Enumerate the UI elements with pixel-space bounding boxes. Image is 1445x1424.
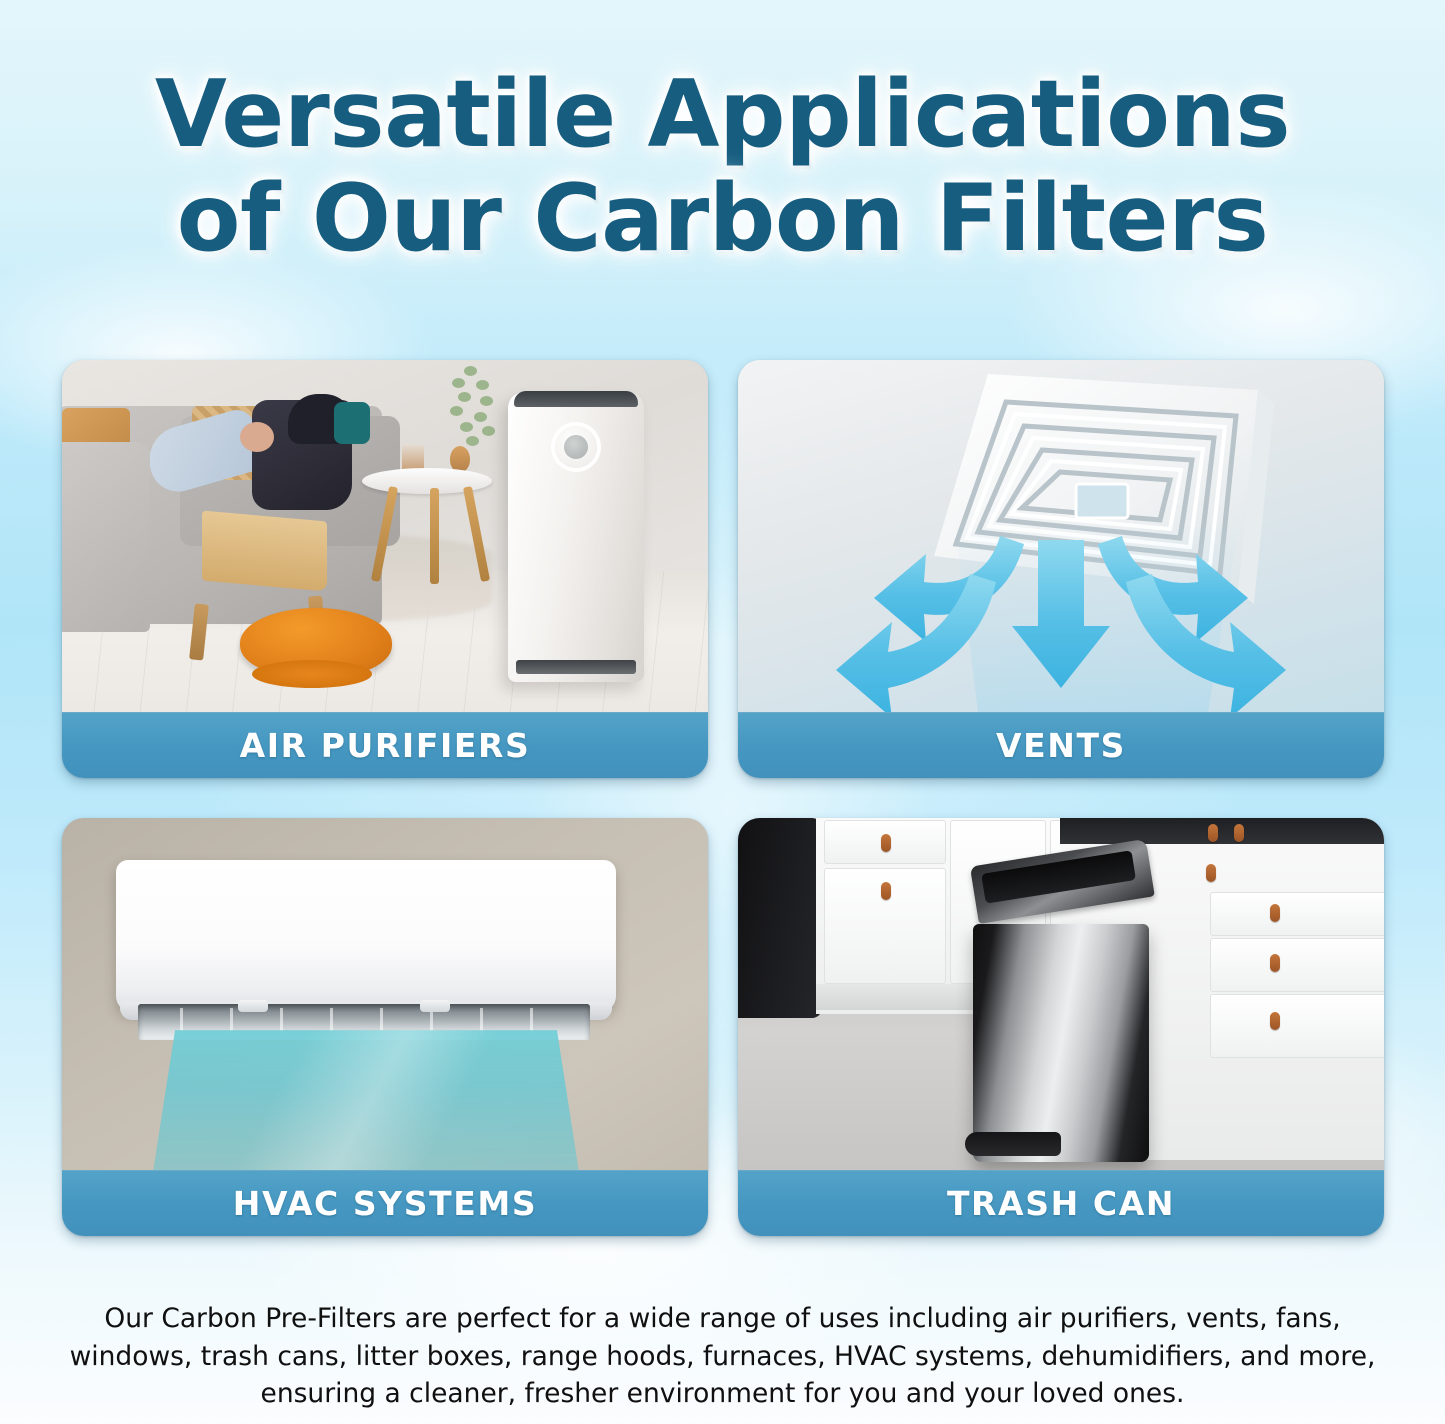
application-card-hvac-systems: HVAC SYSTEMS bbox=[62, 818, 708, 1236]
page-title-line-1: Versatile Applications bbox=[155, 60, 1290, 168]
photo-ceiling-vent bbox=[738, 360, 1384, 712]
cabinet-drawer bbox=[1210, 938, 1384, 992]
cabinet-drawer bbox=[1210, 892, 1384, 936]
cabinet-knob bbox=[1234, 824, 1244, 842]
teal-cushion bbox=[334, 402, 370, 444]
cabinet-knob bbox=[1270, 1012, 1280, 1030]
air-purifier-intake bbox=[516, 660, 636, 674]
person-hand bbox=[240, 422, 274, 452]
air-purifier-outlet bbox=[514, 391, 638, 407]
cabinet-drawer bbox=[1210, 994, 1384, 1058]
card-caption-label: TRASH CAN bbox=[947, 1184, 1175, 1223]
cabinet-knob bbox=[1270, 954, 1280, 972]
cabinet-knob bbox=[881, 882, 891, 900]
air-purifier-device bbox=[508, 392, 644, 682]
card-caption-bar: VENTS bbox=[738, 712, 1384, 778]
black-appliance bbox=[738, 818, 822, 1018]
potted-plant bbox=[434, 366, 506, 454]
description-paragraph: Our Carbon Pre-Filters are perfect for a… bbox=[42, 1300, 1403, 1413]
photo-living-room-air-purifier bbox=[62, 360, 708, 712]
card-caption-bar: HVAC SYSTEMS bbox=[62, 1170, 708, 1236]
cabinet-knob bbox=[1208, 824, 1218, 842]
card-caption-bar: TRASH CAN bbox=[738, 1170, 1384, 1236]
vent-illustration bbox=[738, 360, 1384, 712]
trash-can-pedal bbox=[965, 1132, 1061, 1156]
application-card-vents: VENTS bbox=[738, 360, 1384, 778]
cool-air-stream bbox=[144, 1030, 588, 1170]
photo-mini-split-hvac bbox=[62, 818, 708, 1170]
card-caption-label: AIR PURIFIERS bbox=[240, 726, 531, 765]
sofa-armrest bbox=[62, 442, 150, 632]
application-card-air-purifiers: AIR PURIFIERS bbox=[62, 360, 708, 778]
throw-blanket bbox=[202, 511, 327, 592]
cabinet-knob bbox=[1206, 864, 1216, 882]
application-card-trash-can: TRASH CAN bbox=[738, 818, 1384, 1236]
photo-kitchen-trash-can bbox=[738, 818, 1384, 1170]
cabinet-knob bbox=[1270, 904, 1280, 922]
louver-pivot bbox=[238, 1000, 268, 1012]
cabinet-knob bbox=[881, 834, 891, 852]
page-title: Versatile Applications of Our Carbon Fil… bbox=[0, 62, 1445, 270]
card-caption-label: VENTS bbox=[996, 726, 1126, 765]
stainless-trash-can bbox=[973, 924, 1149, 1162]
application-cards-grid: AIR PURIFIERS bbox=[62, 360, 1384, 1236]
page-title-line-2: of Our Carbon Filters bbox=[0, 166, 1445, 270]
trash-can-body bbox=[973, 924, 1149, 1162]
orange-floor-pillow bbox=[240, 608, 392, 678]
card-caption-label: HVAC SYSTEMS bbox=[233, 1184, 537, 1223]
card-caption-bar: AIR PURIFIERS bbox=[62, 712, 708, 778]
sofa bbox=[62, 406, 382, 624]
louver-pivot bbox=[420, 1000, 450, 1012]
mini-split-unit bbox=[116, 860, 616, 1012]
air-purifier-power-button bbox=[555, 426, 597, 468]
right-countertop bbox=[1060, 818, 1384, 844]
side-table-leg bbox=[430, 488, 439, 584]
